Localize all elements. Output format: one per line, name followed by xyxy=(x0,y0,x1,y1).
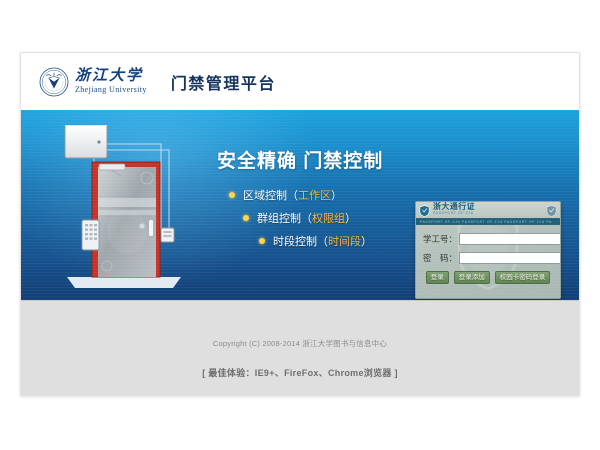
feature-text: 时段控制（ xyxy=(273,233,328,249)
hero-headline: 安全精确 门禁控制 xyxy=(217,146,417,173)
login-button-row: 登录 登录添加 校园卡密码登录 xyxy=(423,271,553,284)
logo-text-cn: 浙江大学 xyxy=(75,69,147,84)
campus-card-login-button[interactable]: 校园卡密码登录 xyxy=(495,271,551,284)
copyright-text: Copyright (C) 2008-2014 浙江大学图书与信息中心 xyxy=(21,338,579,349)
shield-icon-right xyxy=(546,204,557,216)
shield-icon xyxy=(419,204,430,216)
bullet-dot-icon xyxy=(259,238,265,244)
page-title: 门禁管理平台 xyxy=(171,70,276,94)
browser-support-text: [ 最佳体验：IE9+、FireFox、Chrome浏览器 ] xyxy=(21,366,579,379)
username-label: 学工号： xyxy=(423,233,459,245)
list-item: 区域控制（工作区） xyxy=(229,187,417,203)
username-input[interactable] xyxy=(459,233,561,245)
feature-highlight: 权限组 xyxy=(312,210,345,226)
passport-strip-text: PASSPORT OF ZJU PASSPORT OF ZJU PASSPORT… xyxy=(416,220,552,224)
site-footer: Copyright (C) 2008-2014 浙江大学图书与信息中心 [ 最佳… xyxy=(21,300,579,396)
password-row: 密 码： xyxy=(423,252,553,264)
site-header: 浙江大学 Zhejiang University 门禁管理平台 xyxy=(21,53,579,110)
door-access-control-illustration xyxy=(49,120,199,300)
login-panel: 浙大通行证 PASSPORT OF ZJU PASSPORT OF ZJU PA… xyxy=(415,201,561,299)
zju-seal-icon xyxy=(39,67,69,97)
feature-text: 区域控制（ xyxy=(243,187,298,203)
feature-tail: ） xyxy=(345,210,356,226)
login-panel-header: 浙大通行证 PASSPORT OF ZJU xyxy=(416,202,560,218)
password-input[interactable] xyxy=(459,252,561,264)
password-label: 密 码： xyxy=(423,252,459,264)
list-item: 群组控制（权限组） xyxy=(243,210,417,226)
list-item: 时段控制（时间段） xyxy=(259,233,417,249)
hero-text-block: 安全精确 门禁控制 区域控制（工作区） 群组控制（权限组） 时段控制（时间段） xyxy=(217,146,417,265)
hero-banner: 安全精确 门禁控制 区域控制（工作区） 群组控制（权限组） 时段控制（时间段） xyxy=(21,110,579,300)
login-panel-subtitle: PASSPORT OF ZJU xyxy=(433,210,475,217)
feature-text: 群组控制（ xyxy=(257,210,312,226)
logo-text-en: Zhejiang University xyxy=(75,85,147,95)
login-form: 学工号： 密 码： 登录 登录添加 校园卡密码登录 xyxy=(416,225,560,284)
university-logo[interactable]: 浙江大学 Zhejiang University xyxy=(39,67,147,97)
feature-tail: ） xyxy=(331,187,342,203)
feature-highlight: 工作区 xyxy=(298,187,331,203)
bullet-dot-icon xyxy=(229,192,235,198)
feature-list: 区域控制（工作区） 群组控制（权限组） 时段控制（时间段） xyxy=(217,187,417,249)
page-root: 浙江大学 Zhejiang University 门禁管理平台 xyxy=(0,0,600,450)
passport-strip: PASSPORT OF ZJU PASSPORT OF ZJU PASSPORT… xyxy=(416,218,560,225)
content-card: 浙江大学 Zhejiang University 门禁管理平台 xyxy=(20,52,580,396)
bullet-dot-icon xyxy=(243,215,249,221)
feature-highlight: 时间段 xyxy=(328,233,361,249)
username-row: 学工号： xyxy=(423,233,553,245)
login-button[interactable]: 登录 xyxy=(426,271,449,284)
login-add-button[interactable]: 登录添加 xyxy=(454,271,490,284)
login-panel-title: 浙大通行证 xyxy=(433,203,475,210)
feature-tail: ） xyxy=(361,233,372,249)
